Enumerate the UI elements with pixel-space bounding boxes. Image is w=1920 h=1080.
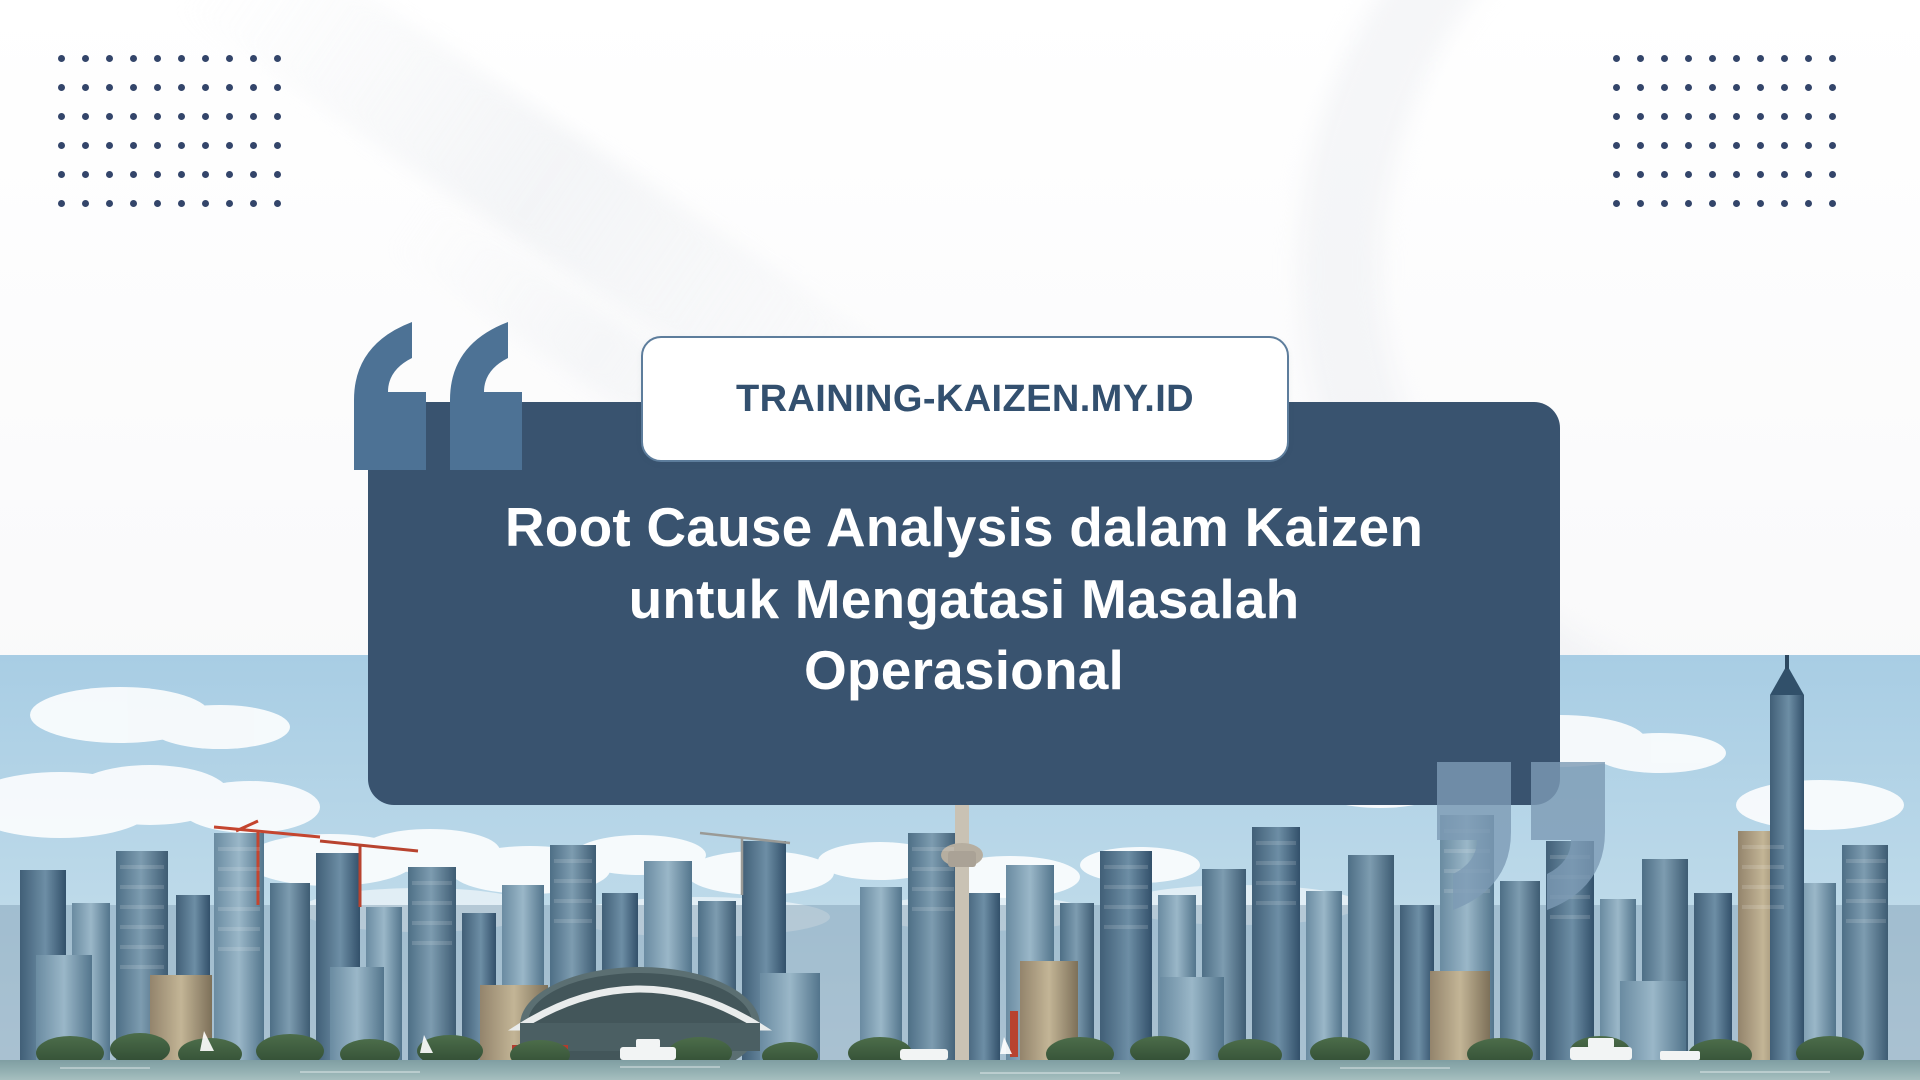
- grid-dot: [82, 171, 89, 178]
- grid-dot: [1637, 113, 1644, 120]
- page-title-line: Operasional: [408, 635, 1520, 707]
- grid-dot: [1709, 171, 1716, 178]
- grid-dot: [202, 142, 209, 149]
- grid-dot: [226, 55, 233, 62]
- grid-dot: [178, 171, 185, 178]
- grid-dot: [1829, 171, 1836, 178]
- grid-dot: [202, 84, 209, 91]
- grid-dot: [1709, 55, 1716, 62]
- grid-dot: [1781, 55, 1788, 62]
- page-title-line: untuk Mengatasi Masalah: [408, 564, 1520, 636]
- grid-dot: [1733, 171, 1740, 178]
- grid-dot: [106, 55, 113, 62]
- grid-dot: [154, 142, 161, 149]
- grid-dot: [1757, 200, 1764, 207]
- grid-dot: [1709, 84, 1716, 91]
- grid-dot: [274, 171, 281, 178]
- grid-dot: [1613, 84, 1620, 91]
- grid-dot: [250, 200, 257, 207]
- quote-open-icon: [350, 322, 530, 470]
- grid-dot: [178, 200, 185, 207]
- grid-dot: [274, 142, 281, 149]
- grid-dot: [130, 142, 137, 149]
- grid-dot: [106, 113, 113, 120]
- grid-dot: [1709, 113, 1716, 120]
- grid-dot: [250, 142, 257, 149]
- grid-dot: [154, 113, 161, 120]
- grid-dot: [1757, 113, 1764, 120]
- grid-dot: [1685, 200, 1692, 207]
- grid-dot: [226, 171, 233, 178]
- grid-dot: [82, 113, 89, 120]
- grid-dot: [1613, 113, 1620, 120]
- grid-dot: [1757, 171, 1764, 178]
- grid-dot: [1613, 171, 1620, 178]
- grid-dot: [1637, 84, 1644, 91]
- grid-dot: [202, 171, 209, 178]
- grid-dot: [1829, 200, 1836, 207]
- grid-dot: [1661, 84, 1668, 91]
- grid-dot: [250, 84, 257, 91]
- grid-dot: [250, 55, 257, 62]
- grid-dot: [178, 84, 185, 91]
- grid-dot: [1661, 200, 1668, 207]
- grid-dot: [1733, 200, 1740, 207]
- grid-dot: [1685, 142, 1692, 149]
- grid-dot: [106, 171, 113, 178]
- grid-dot: [202, 55, 209, 62]
- grid-dot: [1781, 200, 1788, 207]
- grid-dot: [154, 171, 161, 178]
- grid-dot: [1637, 171, 1644, 178]
- quote-card-slide: TRAINING-KAIZEN.MY.ID Root Cause Analysi…: [0, 0, 1920, 1080]
- grid-dot: [178, 113, 185, 120]
- grid-dot: [1781, 142, 1788, 149]
- grid-dot: [1733, 84, 1740, 91]
- grid-dot: [82, 55, 89, 62]
- grid-dot: [274, 113, 281, 120]
- grid-dot: [178, 55, 185, 62]
- grid-dot: [226, 200, 233, 207]
- grid-dot: [1637, 55, 1644, 62]
- grid-dot: [1829, 84, 1836, 91]
- grid-dot: [154, 84, 161, 91]
- grid-dot: [1733, 113, 1740, 120]
- grid-dot: [1685, 113, 1692, 120]
- grid-dot: [274, 84, 281, 91]
- grid-dot: [1709, 142, 1716, 149]
- grid-dot: [106, 142, 113, 149]
- site-badge[interactable]: TRAINING-KAIZEN.MY.ID: [641, 336, 1289, 462]
- grid-dot: [154, 200, 161, 207]
- grid-dot: [130, 84, 137, 91]
- grid-dot: [1757, 84, 1764, 91]
- page-title-line: Root Cause Analysis dalam Kaizen: [408, 492, 1520, 564]
- grid-dot: [1805, 113, 1812, 120]
- dot-grid-right: [1613, 55, 1853, 229]
- grid-dot: [1661, 142, 1668, 149]
- grid-dot: [250, 171, 257, 178]
- grid-dot: [1757, 142, 1764, 149]
- site-badge-label: TRAINING-KAIZEN.MY.ID: [736, 378, 1194, 421]
- grid-dot: [1637, 200, 1644, 207]
- grid-dot: [1613, 142, 1620, 149]
- grid-dot: [1805, 84, 1812, 91]
- grid-dot: [1829, 55, 1836, 62]
- grid-dot: [274, 55, 281, 62]
- grid-dot: [226, 84, 233, 91]
- grid-dot: [1661, 113, 1668, 120]
- grid-dot: [250, 113, 257, 120]
- grid-dot: [1637, 142, 1644, 149]
- grid-dot: [202, 200, 209, 207]
- grid-dot: [1829, 142, 1836, 149]
- grid-dot: [1733, 142, 1740, 149]
- grid-dot: [58, 84, 65, 91]
- grid-dot: [1829, 113, 1836, 120]
- dot-grid-left: [58, 55, 298, 229]
- grid-dot: [226, 113, 233, 120]
- grid-dot: [1805, 142, 1812, 149]
- grid-dot: [130, 55, 137, 62]
- grid-dot: [226, 142, 233, 149]
- grid-dot: [106, 200, 113, 207]
- grid-dot: [154, 55, 161, 62]
- grid-dot: [106, 84, 113, 91]
- grid-dot: [1781, 84, 1788, 91]
- grid-dot: [58, 113, 65, 120]
- grid-dot: [58, 142, 65, 149]
- grid-dot: [202, 113, 209, 120]
- grid-dot: [178, 142, 185, 149]
- grid-dot: [1733, 55, 1740, 62]
- grid-dot: [58, 55, 65, 62]
- grid-dot: [1805, 200, 1812, 207]
- grid-dot: [1613, 200, 1620, 207]
- quote-close-icon: [1437, 762, 1615, 910]
- grid-dot: [130, 171, 137, 178]
- grid-dot: [82, 142, 89, 149]
- grid-dot: [1685, 171, 1692, 178]
- grid-dot: [1781, 113, 1788, 120]
- grid-dot: [1661, 55, 1668, 62]
- page-title: Root Cause Analysis dalam Kaizenuntuk Me…: [368, 492, 1560, 707]
- grid-dot: [130, 200, 137, 207]
- grid-dot: [82, 200, 89, 207]
- grid-dot: [130, 113, 137, 120]
- grid-dot: [1685, 55, 1692, 62]
- grid-dot: [1613, 55, 1620, 62]
- grid-dot: [1709, 200, 1716, 207]
- grid-dot: [1781, 171, 1788, 178]
- grid-dot: [1805, 171, 1812, 178]
- grid-dot: [274, 200, 281, 207]
- grid-dot: [1757, 55, 1764, 62]
- grid-dot: [82, 84, 89, 91]
- grid-dot: [1805, 55, 1812, 62]
- grid-dot: [1685, 84, 1692, 91]
- grid-dot: [58, 171, 65, 178]
- grid-dot: [1661, 171, 1668, 178]
- grid-dot: [58, 200, 65, 207]
